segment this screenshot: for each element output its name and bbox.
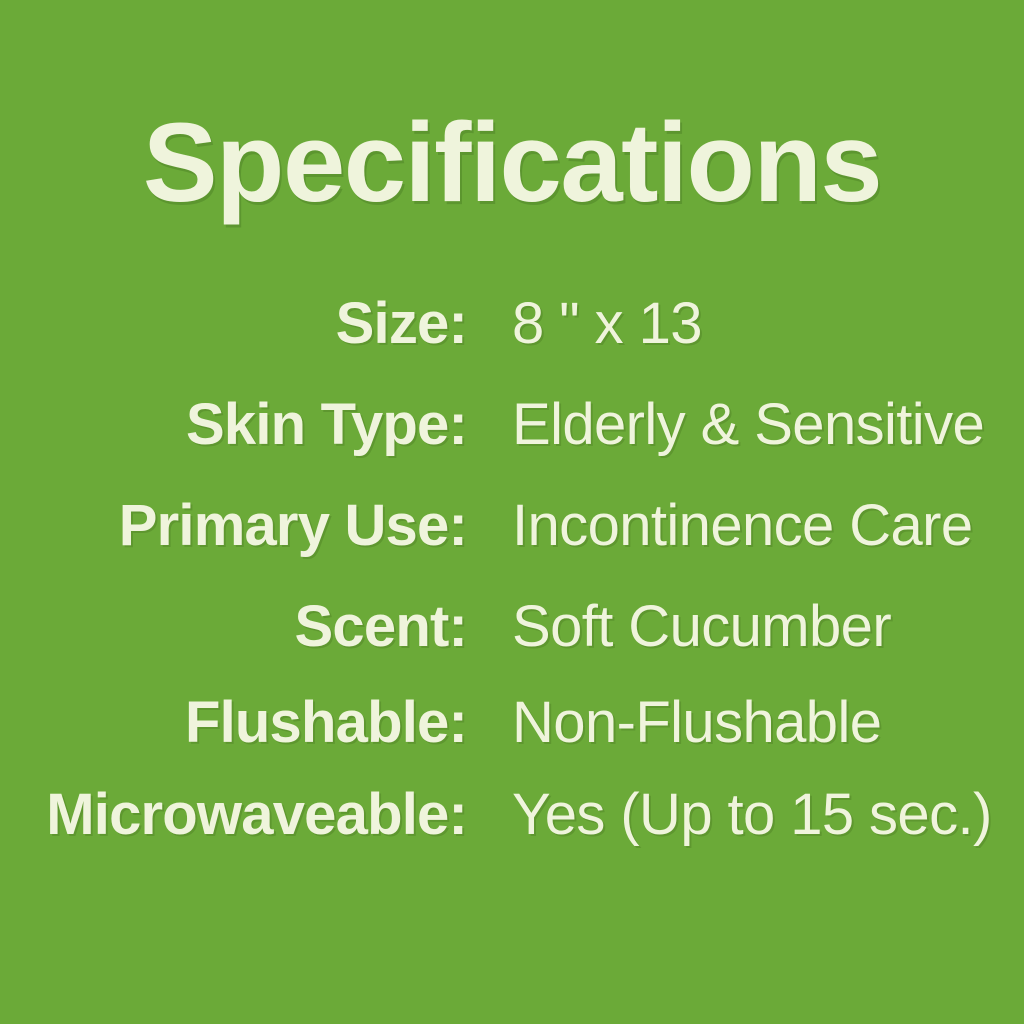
specifications-table: Size: 8 " x 13 Skin Type: Elderly & Sens… bbox=[0, 292, 1024, 875]
spec-label-primary-use: Primary Use: bbox=[0, 494, 467, 558]
spec-row-flushable: Flushable: Non-Flushable bbox=[0, 691, 1024, 783]
spec-label-size: Size: bbox=[0, 292, 467, 356]
spec-row-microwaveable: Microwaveable: Yes (Up to 15 sec.) bbox=[0, 783, 1024, 875]
specifications-card: Specifications Size: 8 " x 13 Skin Type:… bbox=[0, 0, 1024, 1024]
spec-label-microwaveable: Microwaveable: bbox=[0, 783, 467, 847]
spec-row-scent: Scent: Soft Cucumber bbox=[0, 595, 1024, 691]
spec-row-skin-type: Skin Type: Elderly & Sensitive bbox=[0, 393, 1024, 494]
spec-value-scent: Soft Cucumber bbox=[467, 595, 1024, 659]
spec-label-flushable: Flushable: bbox=[0, 691, 467, 755]
spec-label-scent: Scent: bbox=[0, 595, 467, 659]
spec-value-primary-use: Incontinence Care bbox=[467, 494, 1024, 558]
spec-row-size: Size: 8 " x 13 bbox=[0, 292, 1024, 393]
spec-value-flushable: Non-Flushable bbox=[467, 691, 1024, 755]
spec-label-skin-type: Skin Type: bbox=[0, 393, 467, 457]
spec-value-skin-type: Elderly & Sensitive bbox=[467, 393, 1024, 457]
spec-value-size: 8 " x 13 bbox=[467, 292, 1024, 356]
page-title: Specifications bbox=[0, 104, 1024, 222]
spec-value-microwaveable: Yes (Up to 15 sec.) bbox=[467, 783, 1024, 847]
spec-row-primary-use: Primary Use: Incontinence Care bbox=[0, 494, 1024, 595]
